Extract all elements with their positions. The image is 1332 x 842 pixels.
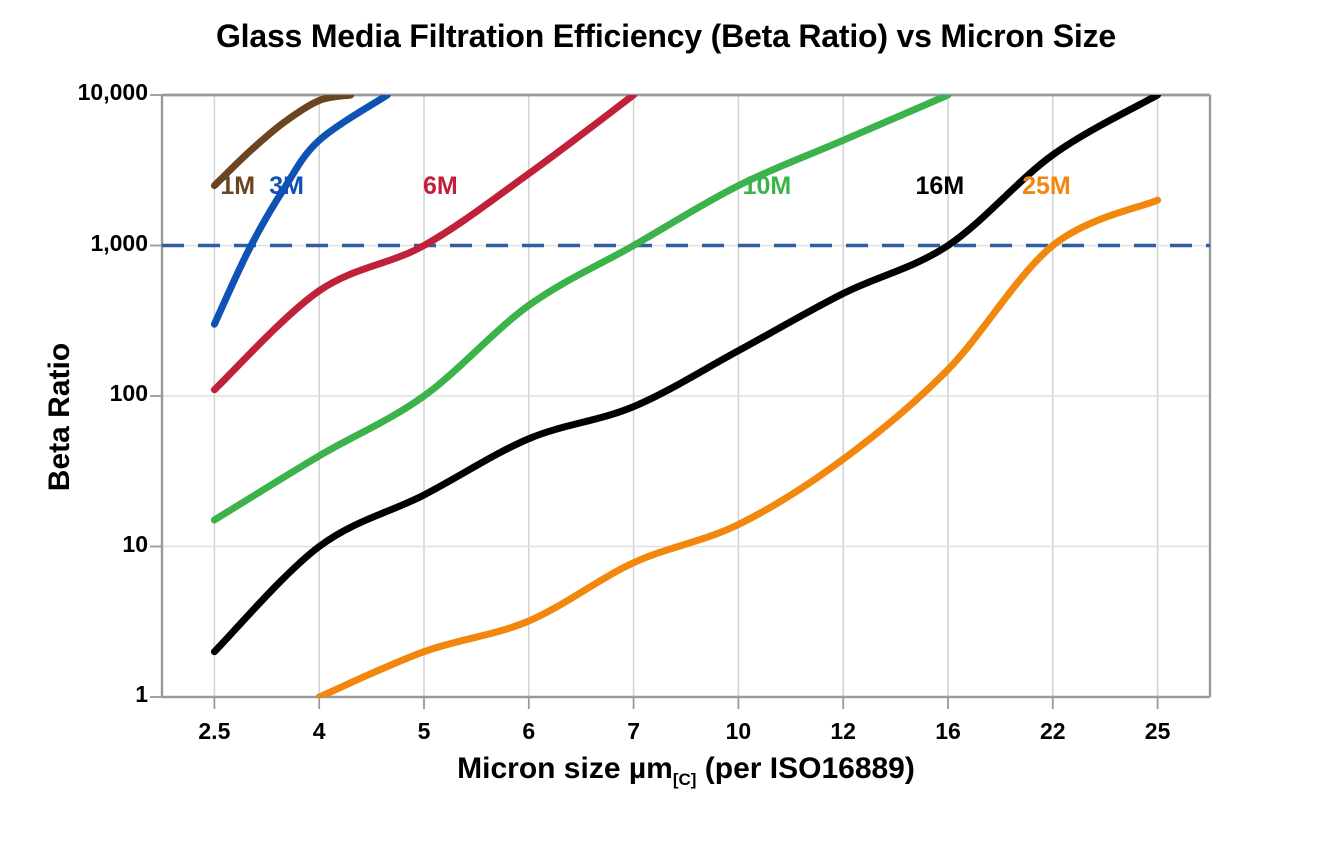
x-tick-label: 5 bbox=[384, 718, 464, 745]
x-tick-label: 6 bbox=[489, 718, 569, 745]
x-tick-label: 7 bbox=[594, 718, 674, 745]
series-line-10m bbox=[214, 95, 948, 520]
x-axis-title-suffix: (per ISO16889) bbox=[696, 752, 914, 785]
x-tick-label: 4 bbox=[279, 718, 359, 745]
x-tick-label: 16 bbox=[908, 718, 988, 745]
y-tick-label: 10 bbox=[8, 531, 148, 558]
x-tick-label: 10 bbox=[698, 718, 778, 745]
plot-area bbox=[0, 0, 1332, 842]
y-tick-label: 1,000 bbox=[8, 230, 148, 257]
series-label-3m: 3M bbox=[269, 172, 304, 201]
series-line-3m bbox=[214, 95, 387, 324]
series-label-6m: 6M bbox=[423, 172, 458, 201]
chart-container: Glass Media Filtration Efficiency (Beta … bbox=[0, 0, 1332, 842]
y-tick-label: 1 bbox=[8, 681, 148, 708]
x-tick-label: 25 bbox=[1118, 718, 1198, 745]
series-label-1m: 1M bbox=[220, 172, 255, 201]
y-axis-title: Beta Ratio bbox=[43, 287, 77, 547]
y-tick-label: 10,000 bbox=[8, 79, 148, 106]
series-line-16m bbox=[214, 95, 1157, 652]
x-axis-title: Micron size µm[C] (per ISO16889) bbox=[162, 752, 1210, 790]
y-tick-label: 100 bbox=[8, 380, 148, 407]
x-tick-label: 22 bbox=[1013, 718, 1093, 745]
x-tick-label: 2.5 bbox=[174, 718, 254, 745]
x-tick-label: 12 bbox=[803, 718, 883, 745]
series-label-10m: 10M bbox=[743, 172, 792, 201]
x-axis-title-subscript: [C] bbox=[673, 770, 697, 789]
series-label-16m: 16M bbox=[916, 172, 965, 201]
x-axis-title-main: Micron size µm bbox=[457, 752, 673, 785]
series-label-25m: 25M bbox=[1022, 172, 1071, 201]
